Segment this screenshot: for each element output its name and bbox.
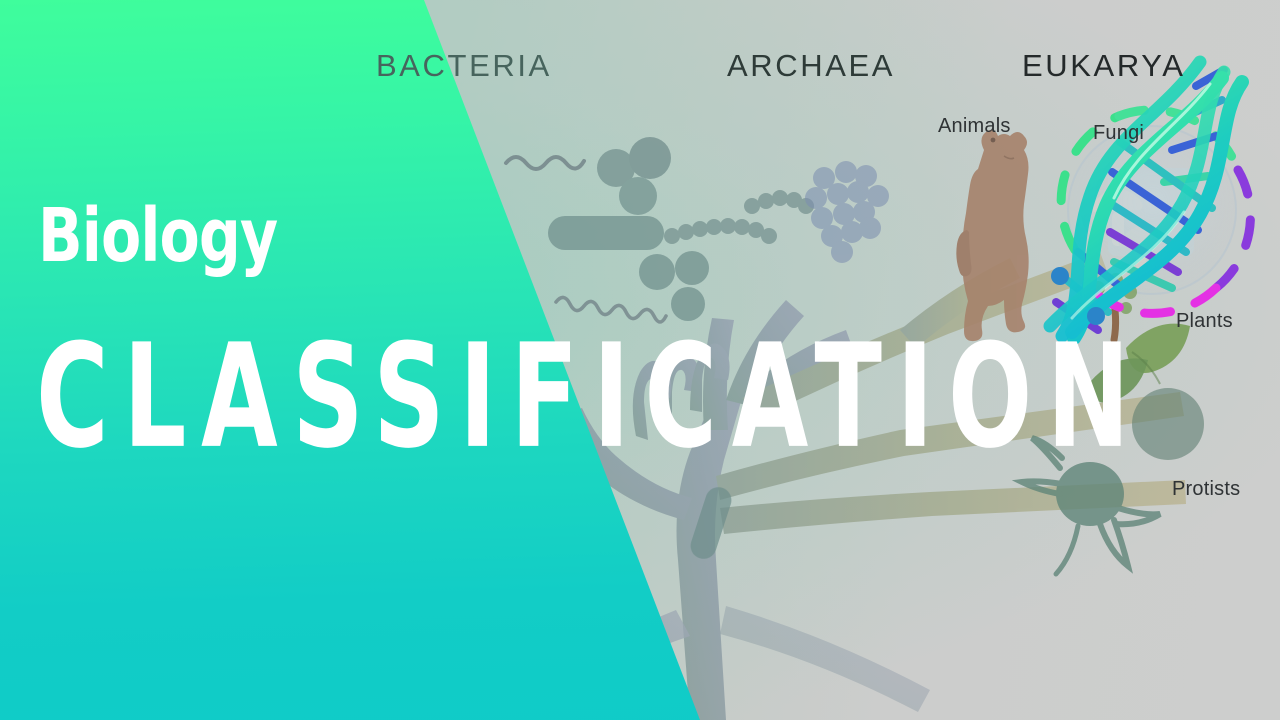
title-card: BACTERIA ARCHAEA EUKARYA Animals Fungi P… [0,0,1280,720]
kingdom-label-fungi: Fungi [1093,122,1144,145]
kingdom-label-protists: Protists [1172,478,1240,501]
domain-label-bacteria: BACTERIA [376,48,552,84]
domain-label-archaea: ARCHAEA [727,48,895,84]
domain-label-eukarya: EUKARYA [1022,48,1186,84]
kingdom-label-animals: Animals [938,115,1011,138]
dna-strands [1050,62,1242,338]
kingdom-label-plants: Plants [1176,310,1233,333]
